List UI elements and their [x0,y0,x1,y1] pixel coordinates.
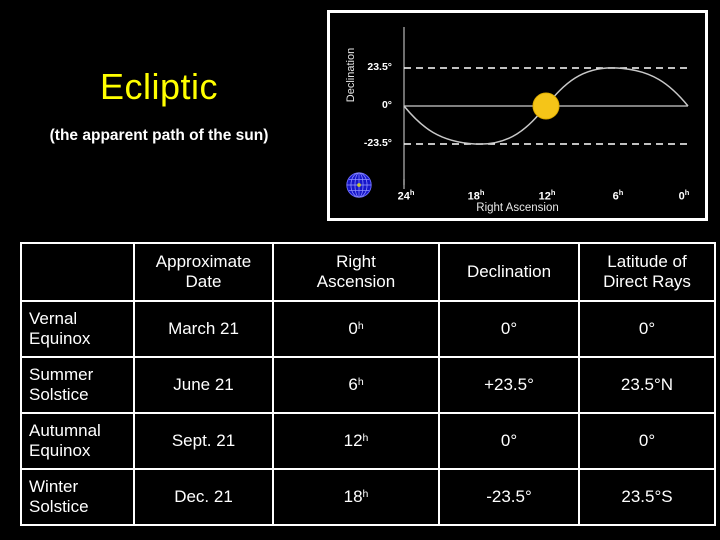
x-tick-18h-unit: h [480,188,485,197]
row3-declination: -23.5° [439,469,579,525]
table-row: Vernal Equinox March 21 0h 0° 0° [21,301,715,357]
header-ra-line1: Right [336,252,376,271]
table-header-row: Approximate Date Right Ascension Declina… [21,243,715,301]
row2-event-line2: Equinox [29,441,133,461]
x-tick-12h-value: 12 [539,191,551,203]
row3-ra-unit: h [363,488,369,500]
row-event-vernal-equinox: Vernal Equinox [21,301,134,357]
x-tick-12h-unit: h [551,188,556,197]
row2-event-line1: Autumnal [29,421,101,440]
column-header-declination: Declination [439,243,579,301]
title-block: Ecliptic (the apparent path of the sun) [0,68,318,145]
x-tick-6h-unit: h [619,188,624,197]
row1-right-ascension: 6h [273,357,439,413]
row3-latitude: 23.5°S [579,469,715,525]
row1-date: June 21 [134,357,273,413]
header-dec-line1: Declination [467,262,551,281]
y-tick-0: 0° [336,99,392,111]
row-event-summer-solstice: Summer Solstice [21,357,134,413]
row1-ra-unit: h [358,376,364,388]
page-title: Ecliptic [0,68,318,106]
table-row: Summer Solstice June 21 6h +23.5° 23.5°N [21,357,715,413]
row2-ra-value: 12 [344,431,363,450]
x-tick-24h: 24h [386,188,426,203]
row0-ra-value: 0 [348,319,357,338]
row3-right-ascension: 18h [273,469,439,525]
row1-event-line2: Solstice [29,385,133,405]
row0-event-line2: Equinox [29,329,133,349]
page-subtitle: (the apparent path of the sun) [0,127,318,145]
row1-event-line1: Summer [29,365,93,384]
row3-ra-value: 18 [344,487,363,506]
sun-marker [533,93,559,119]
x-tick-24h-unit: h [410,188,415,197]
header-lat-line2: Direct Rays [580,272,714,292]
globe-icon [344,170,374,200]
header-lat-line1: Latitude of [607,252,686,271]
row2-declination: 0° [439,413,579,469]
slide-canvas: Ecliptic (the apparent path of the sun) [0,0,720,540]
row2-ra-unit: h [363,432,369,444]
row1-declination: +23.5° [439,357,579,413]
row-event-winter-solstice: Winter Solstice [21,469,134,525]
header-ra-line2: Ascension [274,272,438,292]
x-tick-18h: 18h [456,188,496,203]
x-axis-title: Right Ascension [330,202,705,214]
row0-right-ascension: 0h [273,301,439,357]
row0-declination: 0° [439,301,579,357]
column-header-approximate-date: Approximate Date [134,243,273,301]
header-date-line1: Approximate [156,252,251,271]
header-date-line2: Date [135,272,272,292]
column-header-latitude-of-direct-rays: Latitude of Direct Rays [579,243,715,301]
x-tick-6h: 6h [598,188,638,203]
column-header-event [21,243,134,301]
x-tick-0h: 0h [664,188,704,203]
x-tick-24h-value: 24 [398,191,410,203]
row1-ra-value: 6 [348,375,357,394]
row0-date: March 21 [134,301,273,357]
x-tick-12h: 12h [527,188,567,203]
row3-date: Dec. 21 [134,469,273,525]
row2-date: Sept. 21 [134,413,273,469]
row3-event-line2: Solstice [29,497,133,517]
y-tick-minus-23-5: -23.5° [336,137,392,149]
row-event-autumnal-equinox: Autumnal Equinox [21,413,134,469]
row3-event-line1: Winter [29,477,78,496]
diagram-plot-area: Declination 23.5° 0° -23.5° 24h 18h 12h … [330,13,705,218]
ecliptic-events-table: Approximate Date Right Ascension Declina… [20,242,716,526]
table-row: Winter Solstice Dec. 21 18h -23.5° 23.5°… [21,469,715,525]
table-row: Autumnal Equinox Sept. 21 12h 0° 0° [21,413,715,469]
y-tick-23-5: 23.5° [336,61,392,73]
ecliptic-diagram-panel: Declination 23.5° 0° -23.5° 24h 18h 12h … [327,10,708,221]
row0-latitude: 0° [579,301,715,357]
x-tick-0h-unit: h [685,188,690,197]
row2-right-ascension: 12h [273,413,439,469]
row0-event-line1: Vernal [29,309,77,328]
column-header-right-ascension: Right Ascension [273,243,439,301]
row1-latitude: 23.5°N [579,357,715,413]
row2-latitude: 0° [579,413,715,469]
row0-ra-unit: h [358,320,364,332]
x-tick-18h-value: 18 [468,191,480,203]
